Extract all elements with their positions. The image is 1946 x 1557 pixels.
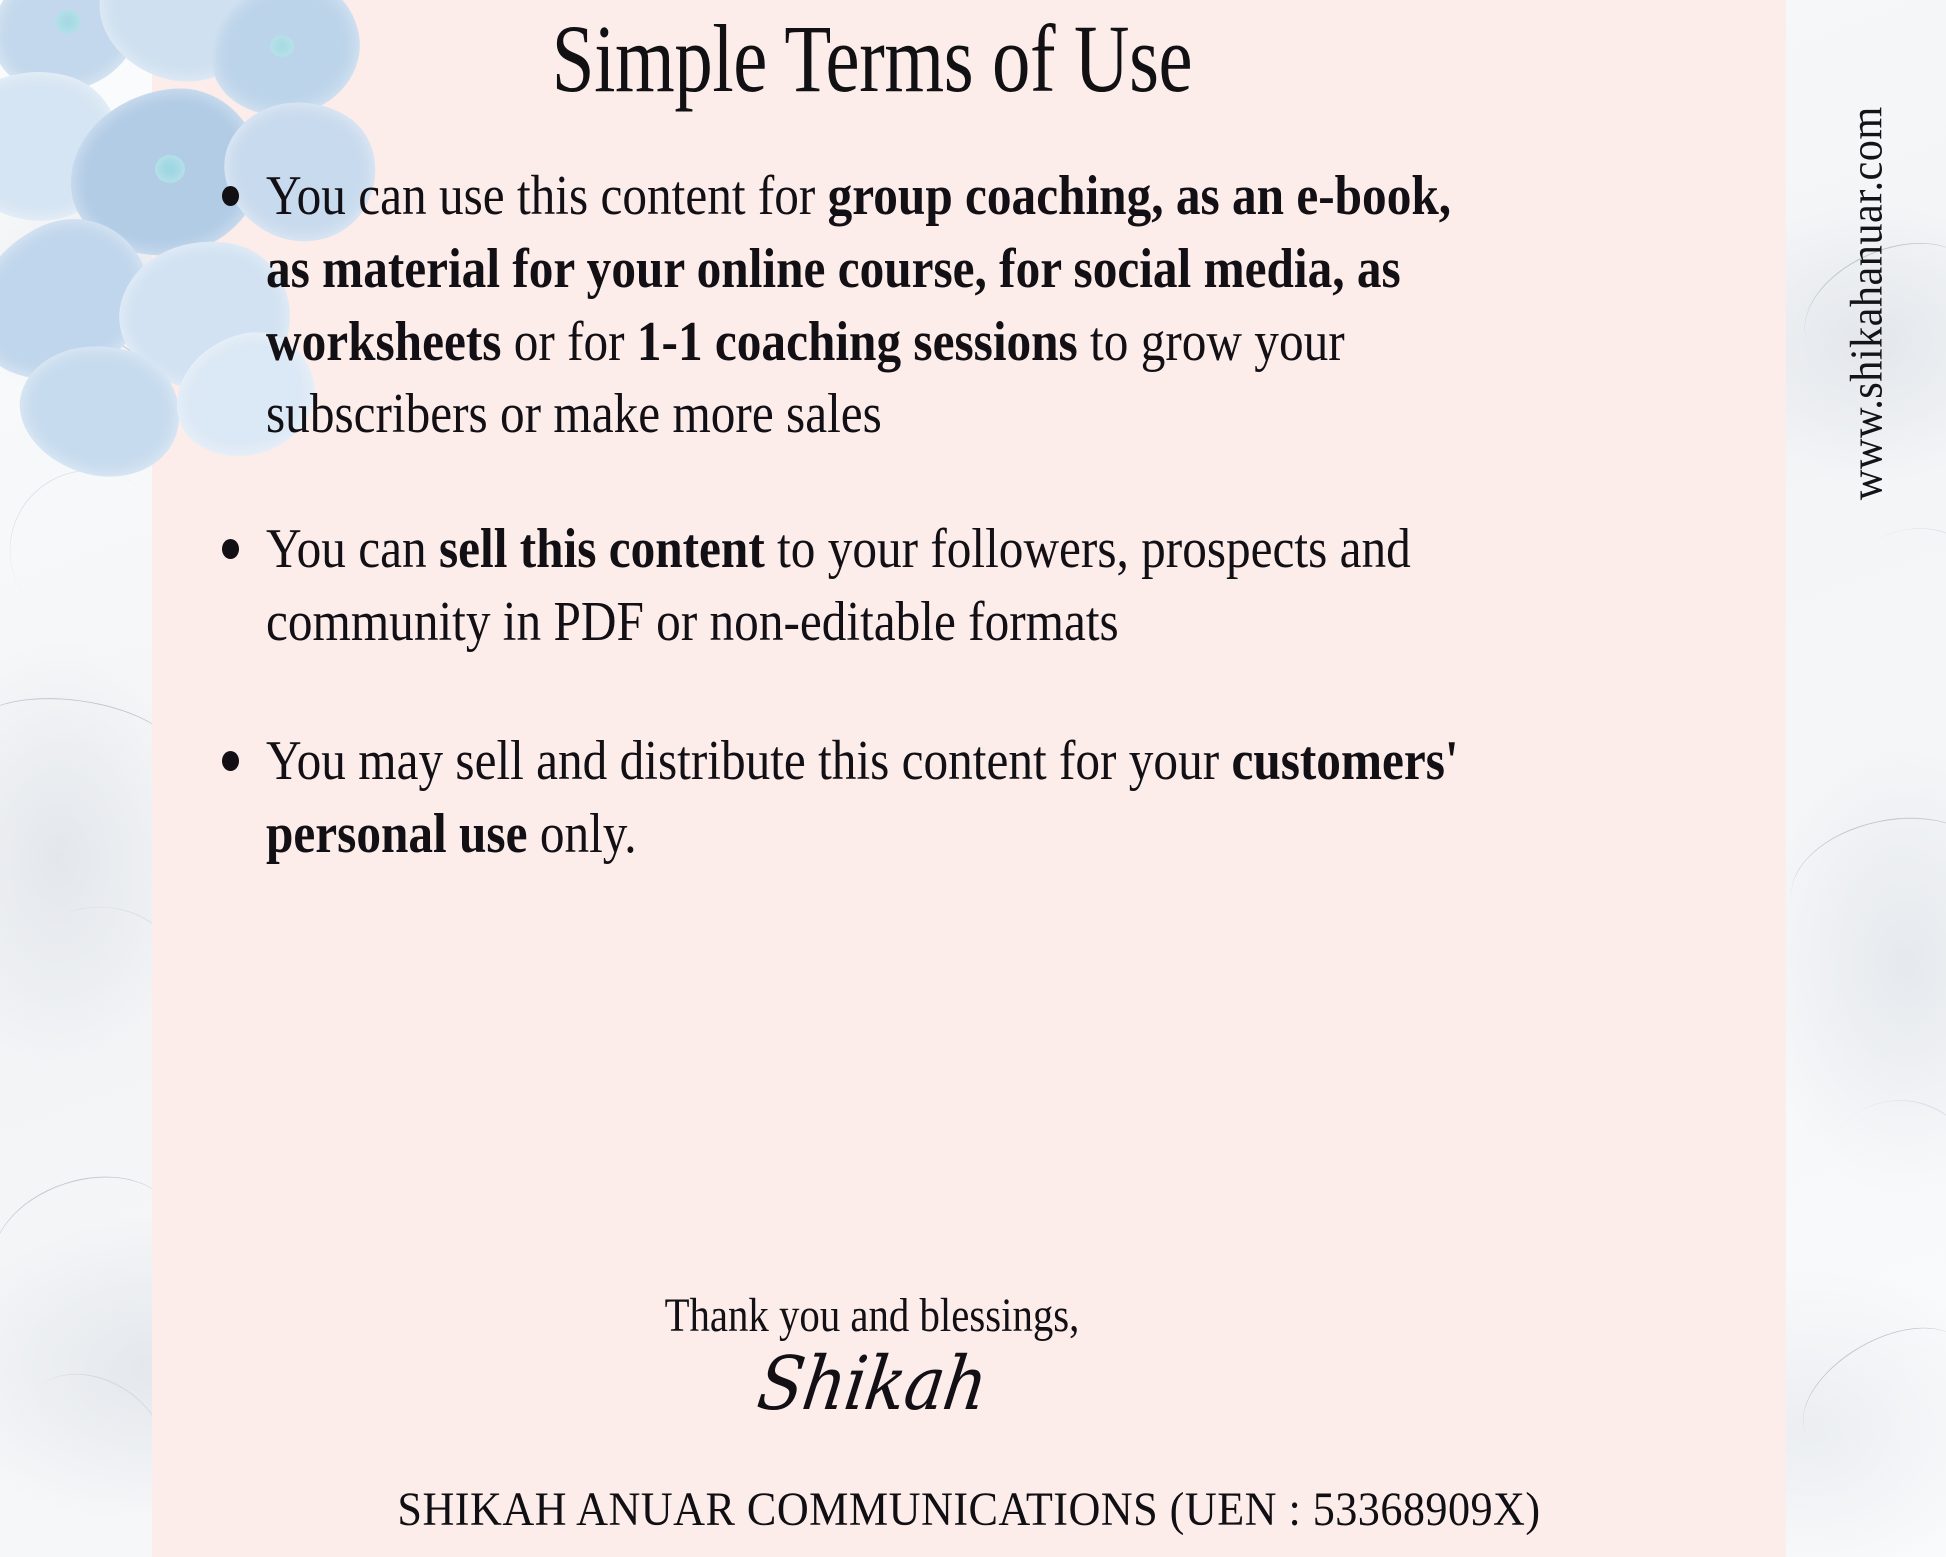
bullet-dot-icon: [222, 751, 239, 771]
website-url-strip: www.shikahanuar.com: [1786, 0, 1946, 1557]
terms-list: You can use this content for group coach…: [210, 160, 1500, 870]
page-title: Simple Terms of Use: [296, 6, 1448, 112]
bullet-dot-icon: [222, 186, 239, 206]
panel-content-layer: Simple Terms of Use You can use this con…: [152, 0, 1786, 1557]
terms-of-use-page: Simple Terms of Use You can use this con…: [0, 0, 1946, 1557]
list-item: You may sell and distribute this content…: [210, 725, 1500, 871]
signoff-block: Thank you and blessings, Shikah: [152, 1288, 1592, 1427]
thank-you-text: Thank you and blessings,: [665, 1288, 1080, 1343]
list-item: You can use this content for group coach…: [210, 160, 1500, 451]
bullet-text: You can sell this content to your follow…: [266, 513, 1500, 659]
website-url: www.shikahanuar.com: [1840, 106, 1893, 500]
signature: Shikah: [752, 1341, 991, 1427]
company-footer: SHIKAH ANUAR COMMUNICATIONS (UEN : 53368…: [217, 1482, 1720, 1537]
list-item: You can sell this content to your follow…: [210, 513, 1500, 659]
bullet-text: You can use this content for group coach…: [266, 160, 1500, 451]
bullet-dot-icon: [222, 539, 239, 559]
bullet-text: You may sell and distribute this content…: [266, 725, 1500, 871]
